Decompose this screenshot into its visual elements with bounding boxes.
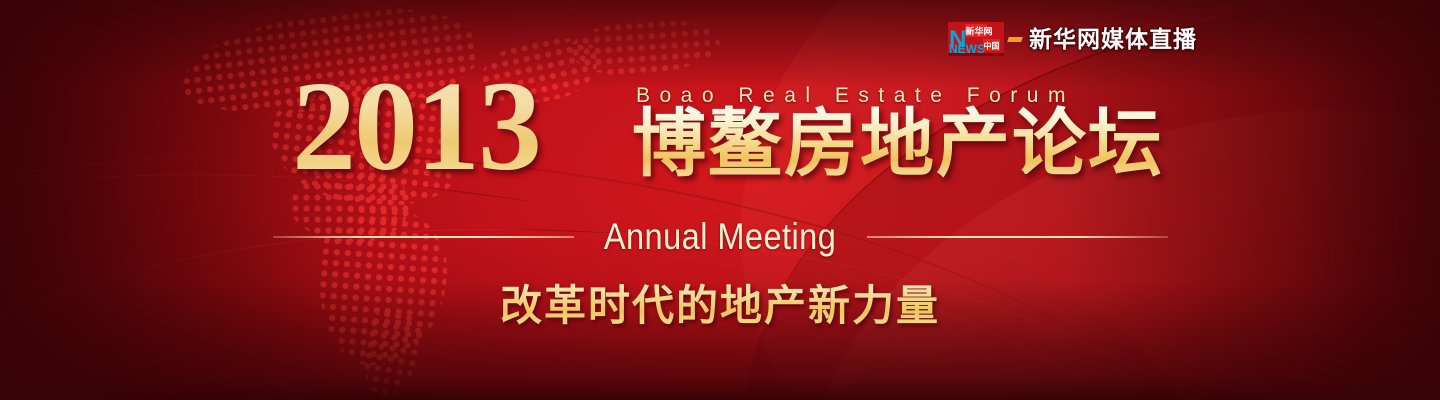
svg-text:中国: 中国 — [984, 41, 1000, 51]
xinhua-live-badge[interactable]: N 新华网 NEWS 中国 新华网媒体直播 — [948, 22, 1197, 56]
tagline: 改革时代的地产新力量 — [0, 272, 1440, 333]
background-vignette — [0, 0, 1440, 400]
boao-forum-banner: N 新华网 NEWS 中国 新华网媒体直播 2013 Boao Real Est… — [0, 0, 1440, 400]
xinhuanet-logo-icon: N 新华网 NEWS 中国 — [948, 22, 1004, 56]
logo-dash-accent — [1007, 37, 1023, 42]
divider-rule-right — [867, 236, 1168, 238]
annual-meeting-label: Annual Meeting — [604, 216, 836, 258]
divider-rule-left — [273, 236, 574, 238]
svg-text:新华网: 新华网 — [966, 26, 993, 38]
year-heading: 2013 — [292, 62, 540, 190]
live-broadcast-label: 新华网媒体直播 — [1029, 28, 1197, 51]
chinese-title: 博鳌房地产论坛 — [632, 104, 1164, 184]
annual-meeting-row: Annual Meeting — [273, 216, 1168, 258]
